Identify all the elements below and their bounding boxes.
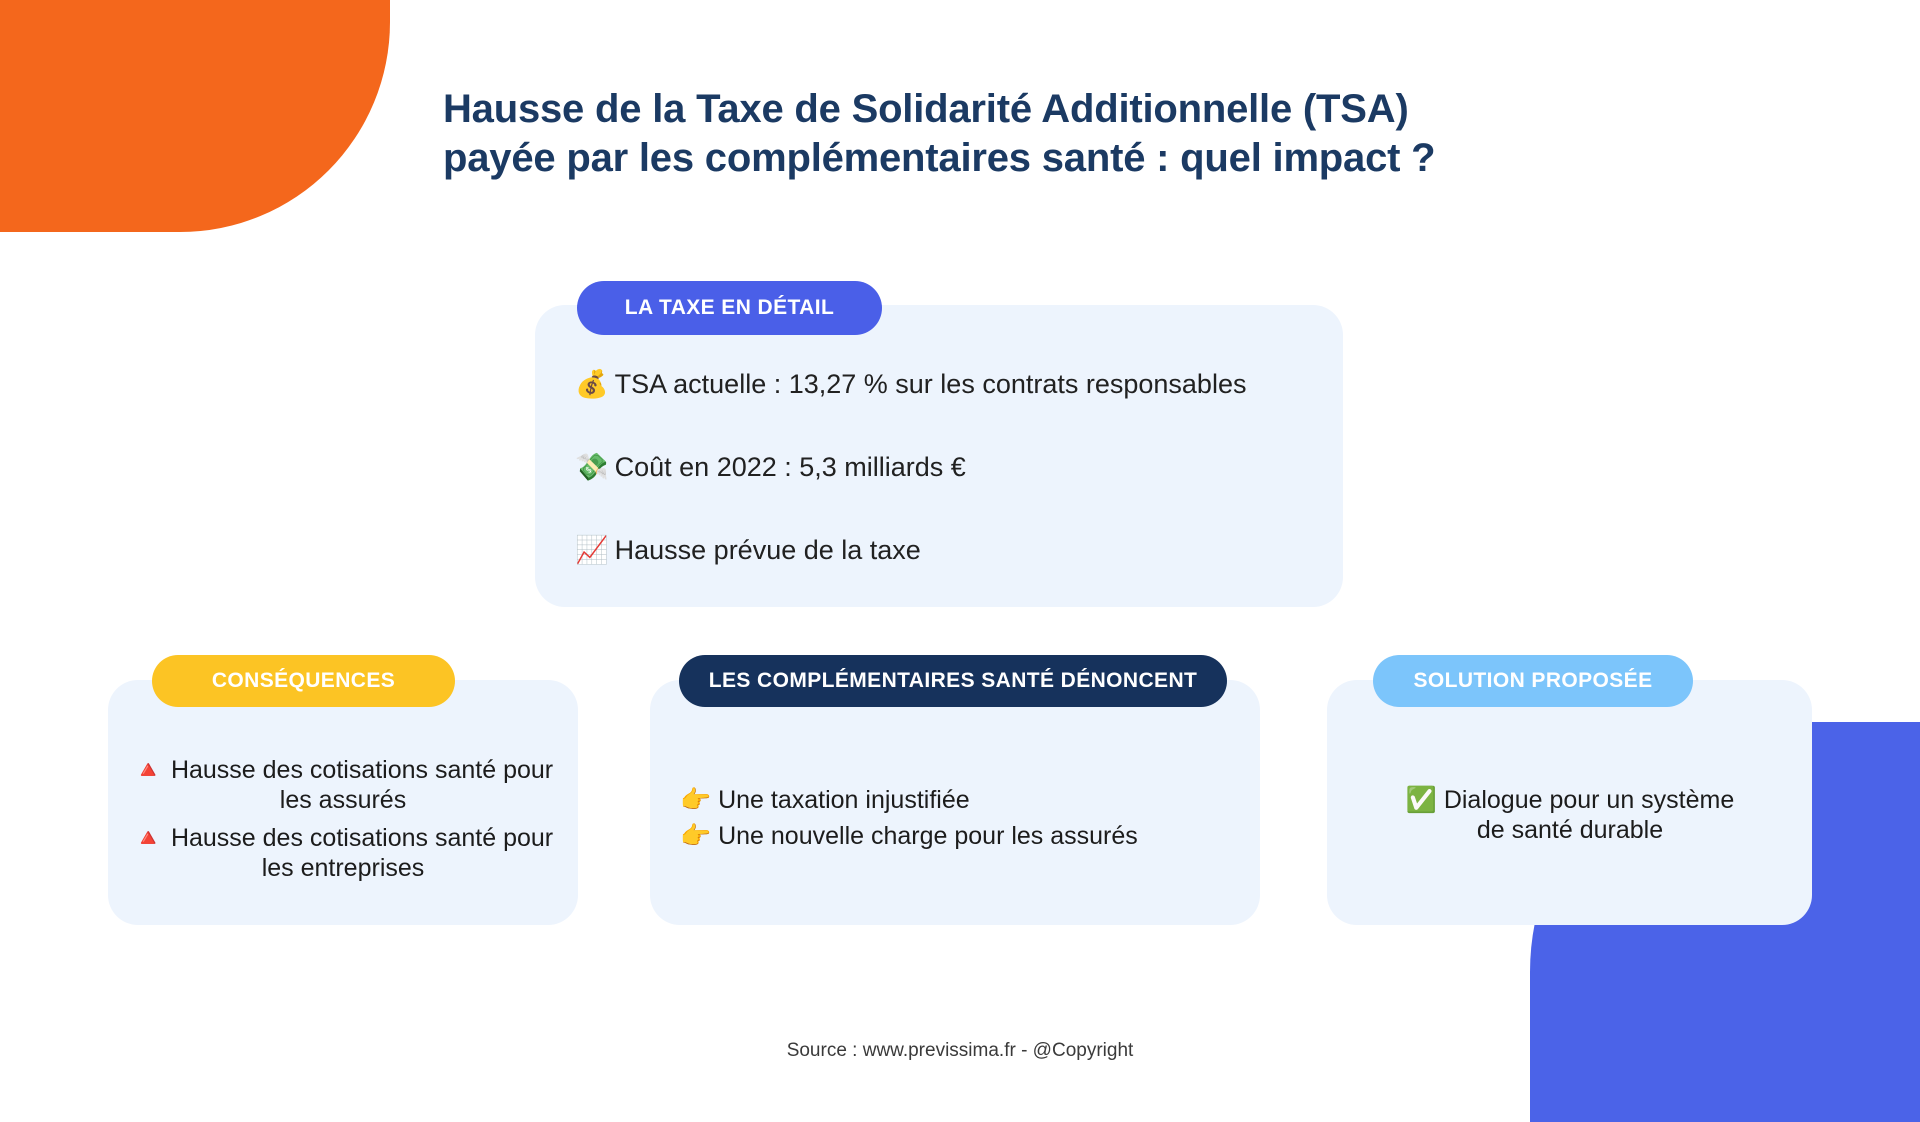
consequences-body: 🔺 Hausse des cotisations santé pour les … <box>118 755 568 883</box>
consequences-badge: CONSÉQUENCES <box>152 655 455 707</box>
denouncement-badge: LES COMPLÉMENTAIRES SANTÉ DÉNONCENT <box>679 655 1227 707</box>
orange-decorative-shape <box>0 0 390 232</box>
list-item-label: Hausse des cotisations santé pour les en… <box>164 824 553 882</box>
money-bag-icon: 💰 <box>575 369 609 400</box>
list-item: 👉 Une nouvelle charge pour les assurés <box>680 821 1240 851</box>
pointing-right-icon: 👉 <box>680 821 711 850</box>
denouncement-body: 👉 Une taxation injustifiée 👉 Une nouvell… <box>680 785 1240 851</box>
page-title: Hausse de la Taxe de Solidarité Addition… <box>443 85 1623 183</box>
page-title-line-1: Hausse de la Taxe de Solidarité Addition… <box>443 85 1623 134</box>
list-item-label: Dialogue pour un système <box>1437 786 1734 814</box>
list-item: de santé durable <box>1340 815 1800 845</box>
list-item: 💸Coût en 2022 : 5,3 milliards € <box>575 451 1315 485</box>
list-item-label: de santé durable <box>1477 816 1663 844</box>
list-item: 🔺 Hausse des cotisations santé pour les … <box>118 755 568 815</box>
list-item-label: Coût en 2022 : 5,3 milliards € <box>615 452 966 482</box>
solution-badge: SOLUTION PROPOSÉE <box>1373 655 1693 707</box>
list-item: 💰TSA actuelle : 13,27 % sur les contrats… <box>575 368 1315 402</box>
tax-detail-list: 💰TSA actuelle : 13,27 % sur les contrats… <box>575 368 1315 567</box>
solution-body: ✅ Dialogue pour un système de santé dura… <box>1340 785 1800 845</box>
page-title-line-2: payée par les complémentaires santé : qu… <box>443 134 1623 183</box>
list-item: ✅ Dialogue pour un système <box>1340 785 1800 815</box>
red-triangle-up-icon: 🔺 <box>133 755 164 784</box>
money-with-wings-icon: 💸 <box>575 452 609 483</box>
list-item-label: Hausse prévue de la taxe <box>615 535 921 565</box>
list-item-label: Une nouvelle charge pour les assurés <box>711 822 1138 850</box>
source-footer: Source : www.previssima.fr - @Copyright <box>0 1040 1920 1062</box>
list-item-label: Hausse des cotisations santé pour les as… <box>164 756 553 814</box>
list-item: 👉 Une taxation injustifiée <box>680 785 1240 815</box>
chart-increasing-icon: 📈 <box>575 535 609 566</box>
pointing-right-icon: 👉 <box>680 785 711 814</box>
list-item-label: Une taxation injustifiée <box>711 786 969 814</box>
list-item: 🔺 Hausse des cotisations santé pour les … <box>118 823 568 883</box>
red-triangle-up-icon: 🔺 <box>133 823 164 852</box>
list-item: 📈Hausse prévue de la taxe <box>575 534 1315 568</box>
tax-detail-badge: LA TAXE EN DÉTAIL <box>577 281 882 335</box>
list-item-label: TSA actuelle : 13,27 % sur les contrats … <box>615 369 1247 399</box>
check-mark-button-icon: ✅ <box>1406 785 1437 814</box>
